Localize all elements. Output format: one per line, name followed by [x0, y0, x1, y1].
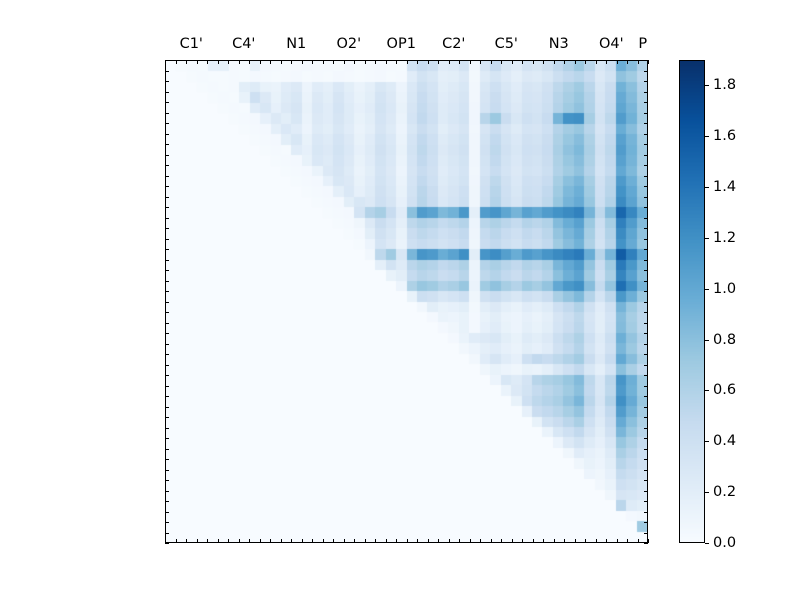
y-tick-right — [644, 123, 648, 124]
y-tick-left — [165, 533, 169, 534]
x-tick-bottom — [596, 539, 597, 543]
y-tick-right — [644, 354, 648, 355]
y-tick-left — [165, 260, 169, 261]
y-tick-left — [165, 459, 169, 460]
x-tick-top — [270, 60, 271, 64]
x-tick-top — [354, 60, 355, 64]
x-tick-bottom — [480, 539, 481, 543]
x-tick-label-0: C1' — [180, 36, 203, 52]
x-tick-bottom — [449, 539, 450, 543]
x-tick-top — [249, 60, 250, 64]
colorbar-gradient — [679, 60, 705, 543]
y-tick-right — [644, 239, 648, 240]
y-tick-left — [165, 470, 169, 471]
x-tick-bottom — [627, 539, 628, 543]
x-tick-bottom — [365, 539, 366, 543]
colorbar-label-2: 0.4 — [713, 433, 736, 449]
x-tick-top — [575, 60, 576, 64]
x-tick-top — [344, 60, 345, 64]
x-tick-label-4: OP1 — [387, 36, 416, 52]
y-tick-right — [644, 533, 648, 534]
y-tick-right — [644, 396, 648, 397]
x-tick-bottom — [617, 539, 618, 543]
y-tick-left — [165, 312, 169, 313]
x-tick-label-1: C4' — [232, 36, 255, 52]
y-tick-left — [165, 501, 169, 502]
x-tick-bottom — [470, 539, 471, 543]
y-tick-right — [644, 449, 648, 450]
y-tick-right — [644, 92, 648, 93]
y-tick-right — [644, 197, 648, 198]
y-tick-left — [165, 333, 169, 334]
colorbar-tick-0 — [705, 543, 709, 544]
heatmap-matrix[interactable] — [166, 61, 647, 542]
colorbar-tick-1 — [705, 492, 709, 493]
x-tick-bottom — [375, 539, 376, 543]
y-tick-right — [644, 228, 648, 229]
y-tick-right — [644, 470, 648, 471]
y-tick-right — [644, 81, 648, 82]
x-tick-top — [627, 60, 628, 64]
x-tick-bottom — [176, 539, 177, 543]
x-tick-bottom — [459, 539, 460, 543]
x-tick-top — [186, 60, 187, 64]
y-tick-left — [165, 102, 169, 103]
y-tick-right — [644, 281, 648, 282]
y-tick-left — [165, 218, 169, 219]
x-tick-bottom — [417, 539, 418, 543]
y-tick-left — [165, 165, 169, 166]
y-tick-left — [165, 123, 169, 124]
x-tick-top — [470, 60, 471, 64]
y-tick-left — [165, 60, 169, 61]
y-tick-right — [644, 134, 648, 135]
y-tick-left — [165, 512, 169, 513]
x-tick-bottom — [606, 539, 607, 543]
x-tick-label-8: O4' — [599, 36, 624, 52]
x-tick-bottom — [186, 539, 187, 543]
x-tick-top — [218, 60, 219, 64]
x-tick-top — [585, 60, 586, 64]
x-tick-bottom — [543, 539, 544, 543]
x-tick-bottom — [333, 539, 334, 543]
x-tick-bottom — [533, 539, 534, 543]
x-tick-top — [648, 60, 649, 64]
x-tick-bottom — [270, 539, 271, 543]
y-tick-left — [165, 344, 169, 345]
y-tick-left — [165, 228, 169, 229]
x-tick-bottom — [585, 539, 586, 543]
x-tick-top — [407, 60, 408, 64]
x-tick-top — [417, 60, 418, 64]
x-tick-bottom — [386, 539, 387, 543]
x-tick-bottom — [648, 539, 649, 543]
x-tick-top — [375, 60, 376, 64]
y-tick-right — [644, 186, 648, 187]
y-tick-right — [644, 417, 648, 418]
y-tick-left — [165, 438, 169, 439]
x-tick-top — [438, 60, 439, 64]
x-tick-top — [491, 60, 492, 64]
x-tick-top — [176, 60, 177, 64]
x-tick-top — [428, 60, 429, 64]
x-tick-top — [638, 60, 639, 64]
y-tick-left — [165, 354, 169, 355]
x-tick-bottom — [197, 539, 198, 543]
y-tick-right — [644, 249, 648, 250]
colorbar-label-4: 0.8 — [713, 332, 736, 348]
colorbar-label-7: 1.4 — [713, 179, 736, 195]
x-tick-top — [617, 60, 618, 64]
y-tick-left — [165, 186, 169, 187]
x-tick-bottom — [207, 539, 208, 543]
y-tick-right — [644, 113, 648, 114]
y-tick-right — [644, 438, 648, 439]
colorbar-label-9: 1.8 — [713, 77, 736, 93]
y-tick-left — [165, 134, 169, 135]
y-tick-right — [644, 144, 648, 145]
x-tick-top — [522, 60, 523, 64]
y-tick-left — [165, 71, 169, 72]
x-tick-top — [281, 60, 282, 64]
y-tick-left — [165, 543, 169, 544]
x-tick-bottom — [522, 539, 523, 543]
y-tick-right — [644, 323, 648, 324]
x-tick-bottom — [512, 539, 513, 543]
colorbar-tick-9 — [705, 85, 709, 86]
x-tick-bottom — [228, 539, 229, 543]
x-tick-bottom — [302, 539, 303, 543]
x-tick-top — [323, 60, 324, 64]
x-tick-bottom — [575, 539, 576, 543]
colorbar-tick-4 — [705, 340, 709, 341]
y-tick-right — [644, 270, 648, 271]
y-tick-right — [644, 260, 648, 261]
y-tick-left — [165, 417, 169, 418]
x-tick-top — [291, 60, 292, 64]
x-tick-top — [312, 60, 313, 64]
x-tick-bottom — [491, 539, 492, 543]
y-tick-right — [644, 291, 648, 292]
x-tick-top — [554, 60, 555, 64]
x-tick-label-9: P — [638, 36, 647, 52]
colorbar-label-8: 1.6 — [713, 128, 736, 144]
y-tick-left — [165, 155, 169, 156]
x-tick-bottom — [312, 539, 313, 543]
y-tick-left — [165, 323, 169, 324]
y-tick-right — [644, 218, 648, 219]
x-tick-bottom — [260, 539, 261, 543]
x-tick-top — [365, 60, 366, 64]
y-tick-left — [165, 480, 169, 481]
y-tick-left — [165, 375, 169, 376]
y-tick-left — [165, 365, 169, 366]
heatmap-plot-area[interactable] — [165, 60, 648, 543]
y-tick-left — [165, 249, 169, 250]
y-tick-right — [644, 207, 648, 208]
x-tick-bottom — [249, 539, 250, 543]
y-tick-left — [165, 428, 169, 429]
x-tick-top — [596, 60, 597, 64]
x-tick-bottom — [239, 539, 240, 543]
colorbar-tick-6 — [705, 238, 709, 239]
y-tick-right — [644, 491, 648, 492]
y-tick-left — [165, 302, 169, 303]
y-tick-right — [644, 333, 648, 334]
x-tick-bottom — [291, 539, 292, 543]
figure-root: C1'C4'N1O2'OP1C2'C5'N3O4'P C1'C4'N1O2'OP… — [0, 0, 800, 600]
x-tick-top — [197, 60, 198, 64]
x-tick-top — [302, 60, 303, 64]
y-tick-left — [165, 113, 169, 114]
x-tick-top — [228, 60, 229, 64]
colorbar-label-5: 1.0 — [713, 281, 736, 297]
y-tick-right — [644, 365, 648, 366]
x-tick-label-7: N3 — [549, 36, 569, 52]
y-tick-left — [165, 386, 169, 387]
x-tick-bottom — [281, 539, 282, 543]
x-tick-bottom — [501, 539, 502, 543]
y-tick-right — [644, 386, 648, 387]
x-tick-top — [260, 60, 261, 64]
y-tick-left — [165, 92, 169, 93]
y-tick-right — [644, 407, 648, 408]
x-tick-top — [459, 60, 460, 64]
x-tick-top — [396, 60, 397, 64]
x-tick-top — [333, 60, 334, 64]
y-tick-right — [644, 459, 648, 460]
y-tick-left — [165, 81, 169, 82]
y-tick-right — [644, 102, 648, 103]
x-tick-top — [533, 60, 534, 64]
x-tick-top — [207, 60, 208, 64]
x-tick-label-6: C5' — [495, 36, 518, 52]
y-tick-right — [644, 543, 648, 544]
y-tick-left — [165, 176, 169, 177]
x-tick-bottom — [323, 539, 324, 543]
x-tick-top — [480, 60, 481, 64]
y-tick-left — [165, 407, 169, 408]
x-tick-label-2: N1 — [286, 36, 306, 52]
x-tick-bottom — [396, 539, 397, 543]
colorbar-label-1: 0.2 — [713, 484, 736, 500]
x-tick-top — [386, 60, 387, 64]
x-tick-label-3: O2' — [336, 36, 361, 52]
y-tick-right — [644, 522, 648, 523]
colorbar[interactable] — [679, 60, 705, 543]
y-tick-right — [644, 71, 648, 72]
y-tick-right — [644, 165, 648, 166]
y-tick-right — [644, 155, 648, 156]
x-tick-top — [501, 60, 502, 64]
colorbar-tick-8 — [705, 136, 709, 137]
x-tick-bottom — [428, 539, 429, 543]
x-tick-bottom — [564, 539, 565, 543]
x-tick-top — [239, 60, 240, 64]
y-tick-left — [165, 239, 169, 240]
y-tick-right — [644, 501, 648, 502]
colorbar-tick-5 — [705, 289, 709, 290]
colorbar-label-0: 0.0 — [713, 535, 736, 551]
y-tick-left — [165, 522, 169, 523]
y-tick-left — [165, 281, 169, 282]
y-tick-right — [644, 312, 648, 313]
x-tick-top — [449, 60, 450, 64]
x-tick-top — [543, 60, 544, 64]
y-tick-right — [644, 480, 648, 481]
y-tick-left — [165, 449, 169, 450]
x-tick-top — [564, 60, 565, 64]
colorbar-label-6: 1.2 — [713, 230, 736, 246]
x-tick-bottom — [407, 539, 408, 543]
colorbar-tick-3 — [705, 390, 709, 391]
y-tick-left — [165, 396, 169, 397]
x-tick-bottom — [218, 539, 219, 543]
y-tick-left — [165, 207, 169, 208]
x-tick-bottom — [354, 539, 355, 543]
y-tick-right — [644, 302, 648, 303]
y-tick-left — [165, 291, 169, 292]
y-tick-left — [165, 491, 169, 492]
y-tick-right — [644, 512, 648, 513]
x-tick-top — [606, 60, 607, 64]
y-tick-right — [644, 176, 648, 177]
x-tick-label-5: C2' — [442, 36, 465, 52]
x-tick-top — [512, 60, 513, 64]
x-tick-bottom — [344, 539, 345, 543]
y-tick-right — [644, 428, 648, 429]
y-tick-left — [165, 144, 169, 145]
y-tick-left — [165, 270, 169, 271]
x-tick-bottom — [438, 539, 439, 543]
x-tick-bottom — [554, 539, 555, 543]
colorbar-tick-7 — [705, 187, 709, 188]
x-tick-bottom — [638, 539, 639, 543]
colorbar-tick-2 — [705, 441, 709, 442]
colorbar-label-3: 0.6 — [713, 382, 736, 398]
y-tick-right — [644, 375, 648, 376]
y-tick-right — [644, 344, 648, 345]
y-tick-left — [165, 197, 169, 198]
